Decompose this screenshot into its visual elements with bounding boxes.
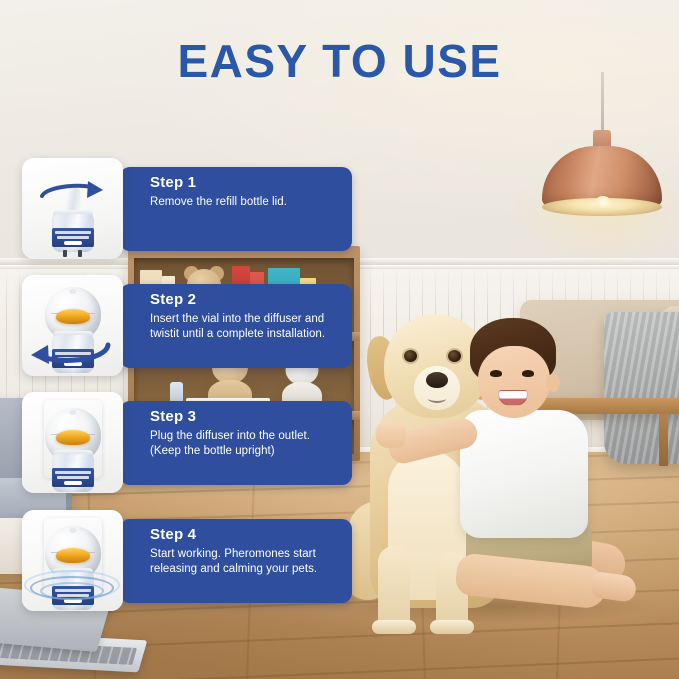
bottle-label bbox=[52, 586, 94, 605]
steps-list: Step 1 Remove the refill bottle lid. bbox=[0, 0, 679, 679]
step-body-1: Remove the refill bottle lid. bbox=[150, 195, 340, 210]
label-chip bbox=[64, 599, 82, 603]
label-line bbox=[55, 589, 91, 592]
label-line bbox=[55, 231, 91, 234]
refill-bottle-icon bbox=[50, 572, 96, 610]
label-chip bbox=[64, 241, 82, 245]
twist-arrow-icon bbox=[36, 180, 108, 206]
step-card-3: Step 3 Plug the diffuser into the outlet… bbox=[22, 392, 352, 493]
step-card-1: Step 1 Remove the refill bottle lid. bbox=[22, 158, 352, 259]
label-line bbox=[57, 476, 89, 479]
step-heading-3: Step 3 bbox=[150, 409, 340, 426]
plug-prong bbox=[78, 250, 82, 257]
step-panel-4: Step 4 Start working. Pheromones start r… bbox=[120, 519, 352, 603]
label-chip bbox=[64, 481, 82, 485]
step-image-2-inner bbox=[22, 275, 123, 376]
step-image-3-inner bbox=[22, 392, 123, 493]
step-image-3 bbox=[22, 392, 123, 493]
amber-vent bbox=[56, 309, 90, 324]
step-heading-4: Step 4 bbox=[150, 527, 340, 544]
step-panel-2: Step 2 Insert the vial into the diffuser… bbox=[120, 284, 352, 368]
step-card-4: Step 4 Start working. Pheromones start r… bbox=[22, 510, 352, 611]
bottle-label bbox=[52, 468, 94, 487]
step-image-4 bbox=[22, 510, 123, 611]
step-body-2: Insert the vial into the diffuser and tw… bbox=[150, 312, 340, 342]
step-panel-1: Step 1 Remove the refill bottle lid. bbox=[120, 167, 352, 251]
label-line bbox=[57, 236, 89, 239]
step-card-2: Step 2 Insert the vial into the diffuser… bbox=[22, 275, 352, 376]
amber-vent bbox=[56, 430, 90, 445]
step-body-4: Start working. Pheromones start releasin… bbox=[150, 547, 340, 577]
step-image-1-inner bbox=[22, 158, 123, 259]
label-line bbox=[55, 471, 91, 474]
bottle-label bbox=[52, 228, 94, 247]
twist-arrow-icon bbox=[28, 335, 116, 369]
step-image-1 bbox=[22, 158, 123, 259]
dome-nub bbox=[69, 289, 76, 294]
plug-prong bbox=[63, 250, 67, 257]
amber-vent bbox=[56, 548, 90, 563]
step-heading-1: Step 1 bbox=[150, 175, 340, 192]
refill-bottle-icon bbox=[50, 454, 96, 492]
dome-nub bbox=[69, 410, 76, 415]
step-body-3: Plug the diffuser into the outlet. (Keep… bbox=[150, 429, 340, 459]
infographic-stage: EASY TO USE Step 1 Remove the refill bot… bbox=[0, 0, 679, 679]
dome-nub bbox=[69, 528, 76, 533]
step-heading-2: Step 2 bbox=[150, 292, 340, 309]
step-image-4-inner bbox=[22, 510, 123, 611]
label-line bbox=[57, 594, 89, 597]
step-panel-3: Step 3 Plug the diffuser into the outlet… bbox=[120, 401, 352, 485]
step-image-2 bbox=[22, 275, 123, 376]
